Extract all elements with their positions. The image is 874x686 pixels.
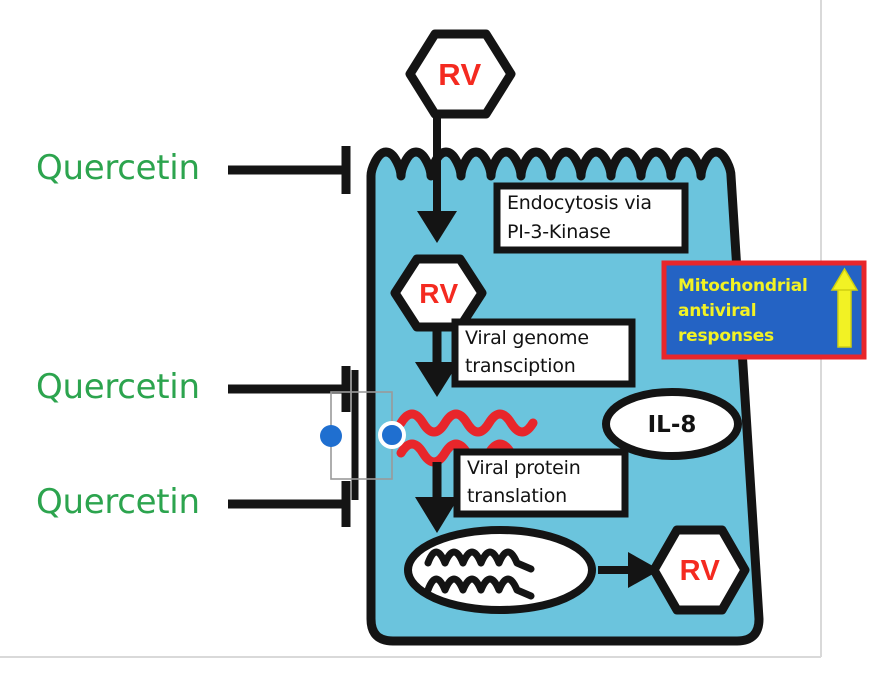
quercetin-transcription-connector: [228, 366, 346, 412]
quercetin-entry-connector: [228, 146, 346, 194]
quercetin-translation-connector: [228, 481, 346, 527]
mito-line-2: antiviral: [678, 299, 756, 323]
rv-progeny-label: RV: [651, 554, 749, 588]
replication-complex: [408, 530, 592, 610]
transcription-line-2: transciption: [465, 355, 576, 377]
selection-handle-left[interactable]: [320, 425, 342, 447]
quercetin-entry-label: Quercetin: [36, 148, 200, 188]
endocytosis-line-2: PI-3-Kinase: [507, 221, 611, 243]
quercetin-transcription-label: Quercetin: [36, 367, 200, 407]
rv-extracellular-label: RV: [406, 57, 514, 94]
transcription-line-1: Viral genome: [465, 327, 589, 349]
mito-line-3: responses: [678, 324, 774, 348]
rv-endosomal-label: RV: [392, 277, 486, 310]
quercetin-translation-label: Quercetin: [36, 482, 200, 522]
diagram-canvas: RV RV RV Quercetin Quercetin Quercetin E…: [0, 0, 874, 686]
mito-line-1: Mitochondrial: [678, 274, 808, 298]
il8-label: IL-8: [608, 412, 736, 439]
translation-line-1: Viral protein: [467, 457, 581, 479]
endocytosis-line-1: Endocytosis via: [507, 192, 652, 214]
selection-handle-right[interactable]: [380, 423, 404, 447]
translation-line-2: translation: [467, 485, 567, 507]
